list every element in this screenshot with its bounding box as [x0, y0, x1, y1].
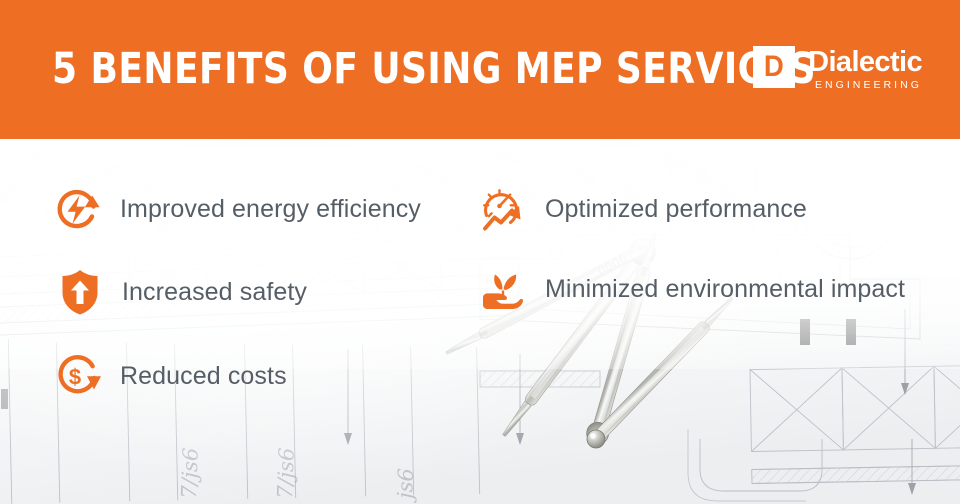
logo-text-block: Dialectic ENGINEERING — [808, 46, 922, 92]
benefit-item-reduced-costs: $ Reduced costs — [54, 352, 287, 400]
logo-mark-icon: D — [753, 46, 795, 88]
page-title: 5 BENEFITS OF USING MEP SERVICES — [52, 44, 816, 94]
benefit-item-energy-efficiency: Improved energy efficiency — [54, 185, 421, 233]
logo-wordmark: Dialectic — [808, 47, 922, 77]
dollar-refresh-down-icon: $ — [54, 352, 102, 400]
benefit-label: Increased safety — [122, 277, 307, 307]
header-bar: 5 BENEFITS OF USING MEP SERVICES D Diale… — [0, 0, 960, 139]
infographic-poster: 7/js6 7/js6 js6 — [0, 0, 960, 504]
svg-text:$: $ — [69, 365, 81, 390]
gauge-trend-up-icon — [479, 185, 527, 233]
benefit-item-environmental-impact: Minimized environmental impact — [479, 265, 905, 313]
benefit-label: Reduced costs — [120, 361, 287, 391]
hand-sprout-icon — [479, 265, 527, 313]
benefit-label: Optimized performance — [545, 194, 807, 224]
benefit-label: Minimized environmental impact — [545, 274, 905, 304]
logo-mark-letter: D — [764, 52, 784, 82]
shield-up-arrow-icon — [56, 268, 104, 316]
logo-subtitle: ENGINEERING — [808, 79, 922, 92]
benefit-item-increased-safety: Increased safety — [56, 268, 307, 316]
energy-refresh-icon — [54, 185, 102, 233]
benefit-label: Improved energy efficiency — [120, 194, 421, 224]
benefits-list: Improved energy efficiency Increased saf… — [0, 139, 960, 504]
benefit-item-optimized-performance: Optimized performance — [479, 185, 807, 233]
brand-logo[interactable]: D Dialectic ENGINEERING — [753, 46, 922, 92]
